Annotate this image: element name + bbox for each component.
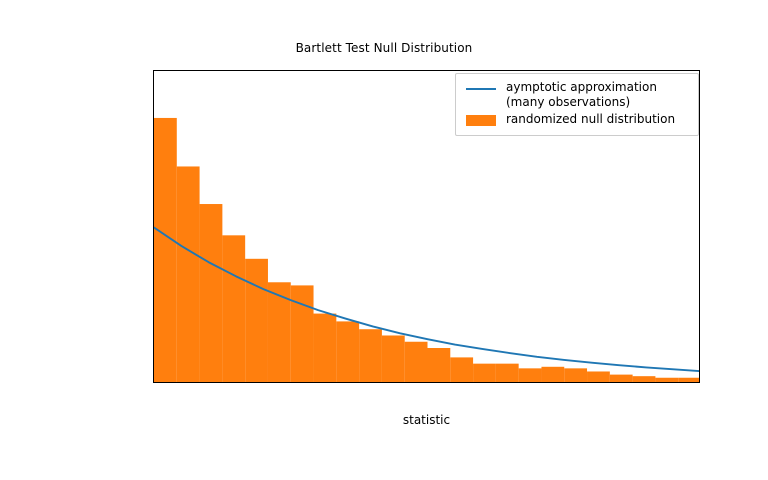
x-tick-mark — [482, 382, 483, 383]
histogram-bar — [633, 376, 656, 383]
histogram-bar — [336, 321, 359, 383]
legend-item-randomized: randomized null distribution — [464, 112, 690, 129]
histogram-bar — [359, 329, 382, 383]
histogram-bars — [154, 118, 700, 383]
histogram-bar — [564, 368, 587, 383]
legend-item-asymptotic: aymptotic approximation (many observatio… — [464, 80, 690, 110]
histogram-bar — [655, 378, 678, 383]
legend-label-asymptotic: aymptotic approximation (many observatio… — [506, 80, 657, 110]
y-tick-mark — [153, 258, 154, 259]
histogram-bar — [610, 375, 633, 383]
legend-label-randomized: randomized null distribution — [506, 112, 675, 127]
legend-line-swatch — [464, 80, 498, 97]
chart-title: Bartlett Test Null Distribution — [0, 41, 768, 55]
histogram-bar — [541, 367, 564, 383]
x-tick-mark — [591, 382, 592, 383]
x-tick-mark — [154, 382, 155, 383]
histogram-bar — [450, 357, 473, 383]
y-tick-mark — [153, 196, 154, 197]
histogram-bar — [200, 204, 223, 383]
histogram-bar — [291, 285, 314, 383]
histogram-bar — [245, 259, 268, 383]
histogram-bar — [519, 368, 542, 383]
histogram-bar — [314, 314, 337, 383]
y-tick-mark — [153, 321, 154, 322]
histogram-bar — [473, 364, 496, 383]
x-tick-mark — [372, 382, 373, 383]
histogram-bar — [154, 118, 177, 383]
y-tick-mark — [153, 133, 154, 134]
histogram-bar — [428, 348, 451, 383]
figure-canvas: Bartlett Test Null Distribution probabil… — [0, 0, 768, 480]
histogram-bar — [382, 335, 405, 383]
x-tick-mark — [263, 382, 264, 383]
legend-patch-swatch — [464, 112, 498, 129]
histogram-bar — [222, 235, 245, 383]
histogram-bar — [405, 342, 428, 383]
histogram-bar — [678, 378, 700, 383]
histogram-bar — [496, 364, 519, 383]
chart-legend: aymptotic approximation (many observatio… — [455, 73, 699, 136]
histogram-bar — [177, 166, 200, 383]
histogram-bar — [268, 282, 291, 383]
y-tick-mark — [153, 71, 154, 72]
x-axis-label: statistic — [153, 413, 700, 427]
